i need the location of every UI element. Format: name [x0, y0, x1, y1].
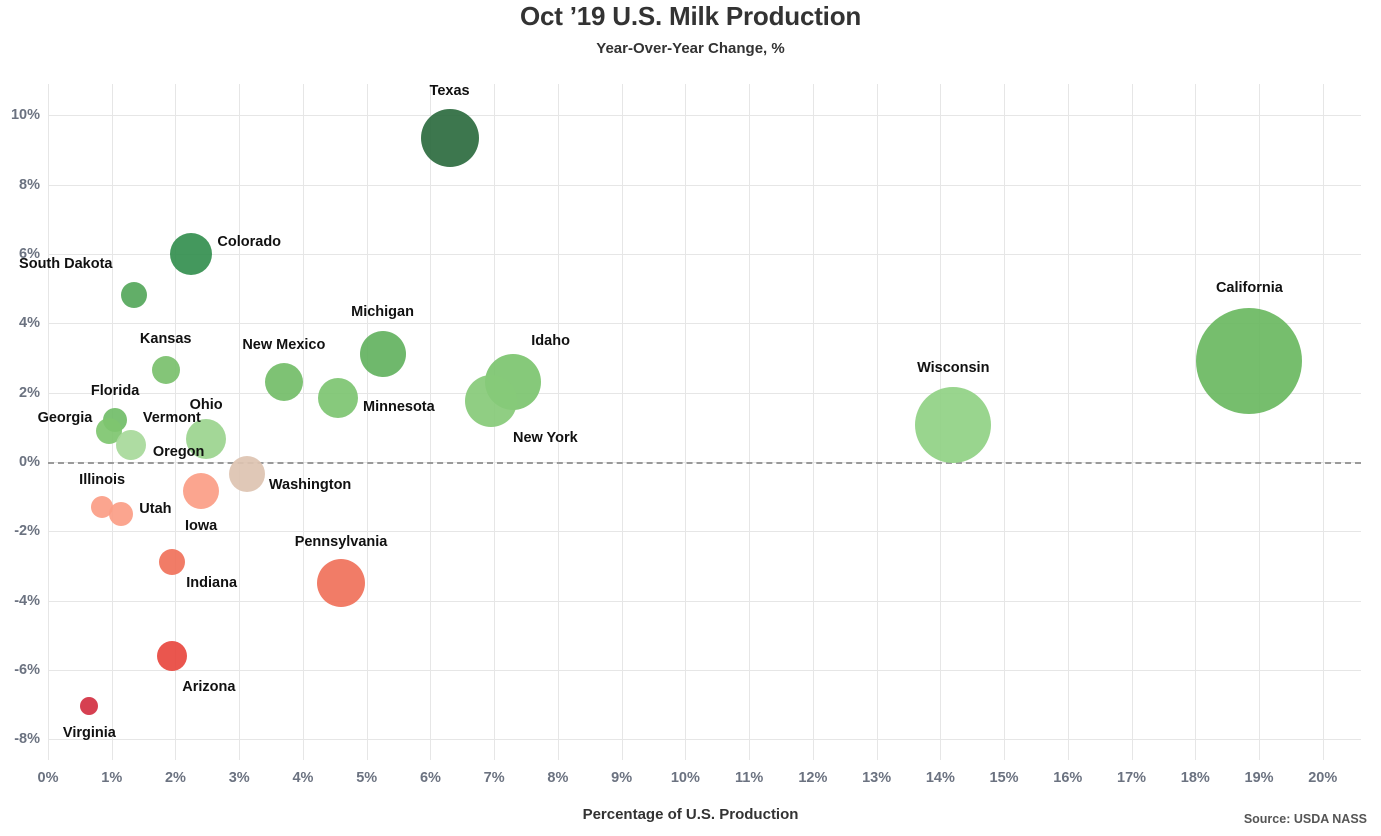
x-tick-label: 3% [229, 770, 250, 786]
bubble-label-illinois: Illinois [79, 472, 125, 488]
gridline-horizontal [48, 670, 1361, 671]
bubble-label-georgia: Georgia [38, 410, 93, 426]
y-tick-label: -8% [0, 731, 48, 747]
bubble-label-vermont: Vermont [143, 410, 201, 426]
gridline-horizontal [48, 254, 1361, 255]
gridline-horizontal [48, 185, 1361, 186]
x-tick-label: 0% [38, 770, 59, 786]
bubble-label-oregon: Oregon [153, 444, 205, 460]
bubble-vermont[interactable] [116, 430, 146, 460]
gridline-horizontal [48, 393, 1361, 394]
y-tick-label: -4% [0, 593, 48, 609]
x-tick-label: 2% [165, 770, 186, 786]
x-tick-label: 10% [671, 770, 700, 786]
bubble-label-new-york: New York [513, 430, 578, 446]
bubble-new-york[interactable] [465, 375, 517, 427]
source-note: Source: USDA NASS [1244, 812, 1367, 826]
gridline-horizontal [48, 323, 1361, 324]
bubble-pennsylvania[interactable] [317, 559, 365, 607]
bubble-label-idaho: Idaho [531, 333, 570, 349]
x-tick-label: 7% [484, 770, 505, 786]
bubble-virginia[interactable] [80, 697, 98, 715]
bubble-label-minnesota: Minnesota [363, 399, 435, 415]
bubble-label-california: California [1216, 280, 1283, 296]
bubble-label-iowa: Iowa [185, 518, 217, 534]
y-tick-label: 8% [0, 177, 48, 193]
x-tick-label: 1% [101, 770, 122, 786]
bubble-label-kansas: Kansas [140, 331, 192, 347]
bubble-label-virginia: Virginia [63, 725, 116, 741]
y-tick-label: 4% [0, 315, 48, 331]
y-tick-label: 10% [0, 107, 48, 123]
bubble-california[interactable] [1196, 308, 1302, 414]
bubble-label-pennsylvania: Pennsylvania [295, 534, 388, 550]
plot-area: TexasColoradoSouth DakotaMichiganCalifor… [48, 84, 1361, 760]
chart-root: Oct ’19 U.S. Milk Production Year-Over-Y… [0, 0, 1381, 836]
bubble-label-wisconsin: Wisconsin [917, 360, 989, 376]
bubble-new-mexico[interactable] [265, 363, 303, 401]
x-tick-label: 16% [1053, 770, 1082, 786]
bubble-iowa[interactable] [183, 473, 219, 509]
bubble-label-arizona: Arizona [182, 679, 235, 695]
bubble-kansas[interactable] [152, 356, 180, 384]
x-tick-label: 12% [798, 770, 827, 786]
gridlines [48, 84, 1361, 760]
bubble-label-florida: Florida [91, 383, 139, 399]
chart-subtitle: Year-Over-Year Change, % [0, 40, 1381, 57]
bubble-wisconsin[interactable] [915, 387, 991, 463]
bubble-washington[interactable] [229, 456, 265, 492]
chart-title: Oct ’19 U.S. Milk Production [0, 1, 1381, 32]
x-tick-label: 8% [547, 770, 568, 786]
x-tick-label: 11% [735, 770, 763, 786]
y-tick-label: 2% [0, 385, 48, 401]
y-tick-label: -2% [0, 523, 48, 539]
x-tick-label: 15% [990, 770, 1019, 786]
x-tick-label: 17% [1117, 770, 1146, 786]
gridline-horizontal [48, 531, 1361, 532]
bubble-label-texas: Texas [430, 83, 470, 99]
bubble-minnesota[interactable] [318, 378, 358, 418]
y-tick-label: 6% [0, 246, 48, 262]
x-tick-label: 6% [420, 770, 441, 786]
gridline-horizontal [48, 601, 1361, 602]
bubble-label-new-mexico: New Mexico [242, 337, 325, 353]
x-tick-label: 20% [1308, 770, 1337, 786]
x-tick-label: 18% [1181, 770, 1210, 786]
bubble-south-dakota[interactable] [121, 282, 147, 308]
x-axis-title: Percentage of U.S. Production [0, 806, 1381, 823]
bubble-indiana[interactable] [159, 549, 185, 575]
bubble-arizona[interactable] [157, 641, 187, 671]
bubble-texas[interactable] [421, 109, 479, 167]
y-tick-label: 0% [0, 454, 48, 470]
bubble-label-washington: Washington [269, 477, 351, 493]
x-tick-label: 9% [611, 770, 632, 786]
bubble-colorado[interactable] [170, 233, 212, 275]
x-tick-label: 13% [862, 770, 891, 786]
gridline-horizontal [48, 115, 1361, 116]
x-tick-label: 19% [1245, 770, 1274, 786]
x-tick-label: 14% [926, 770, 955, 786]
x-tick-label: 5% [356, 770, 377, 786]
bubble-label-michigan: Michigan [351, 304, 414, 320]
bubble-label-colorado: Colorado [217, 234, 281, 250]
bubble-michigan[interactable] [360, 331, 406, 377]
x-tick-label: 4% [292, 770, 313, 786]
bubble-label-utah: Utah [139, 501, 171, 517]
bubble-label-indiana: Indiana [186, 575, 237, 591]
gridline-horizontal [48, 739, 1361, 740]
bubble-utah[interactable] [109, 502, 133, 526]
y-tick-label: -6% [0, 662, 48, 678]
